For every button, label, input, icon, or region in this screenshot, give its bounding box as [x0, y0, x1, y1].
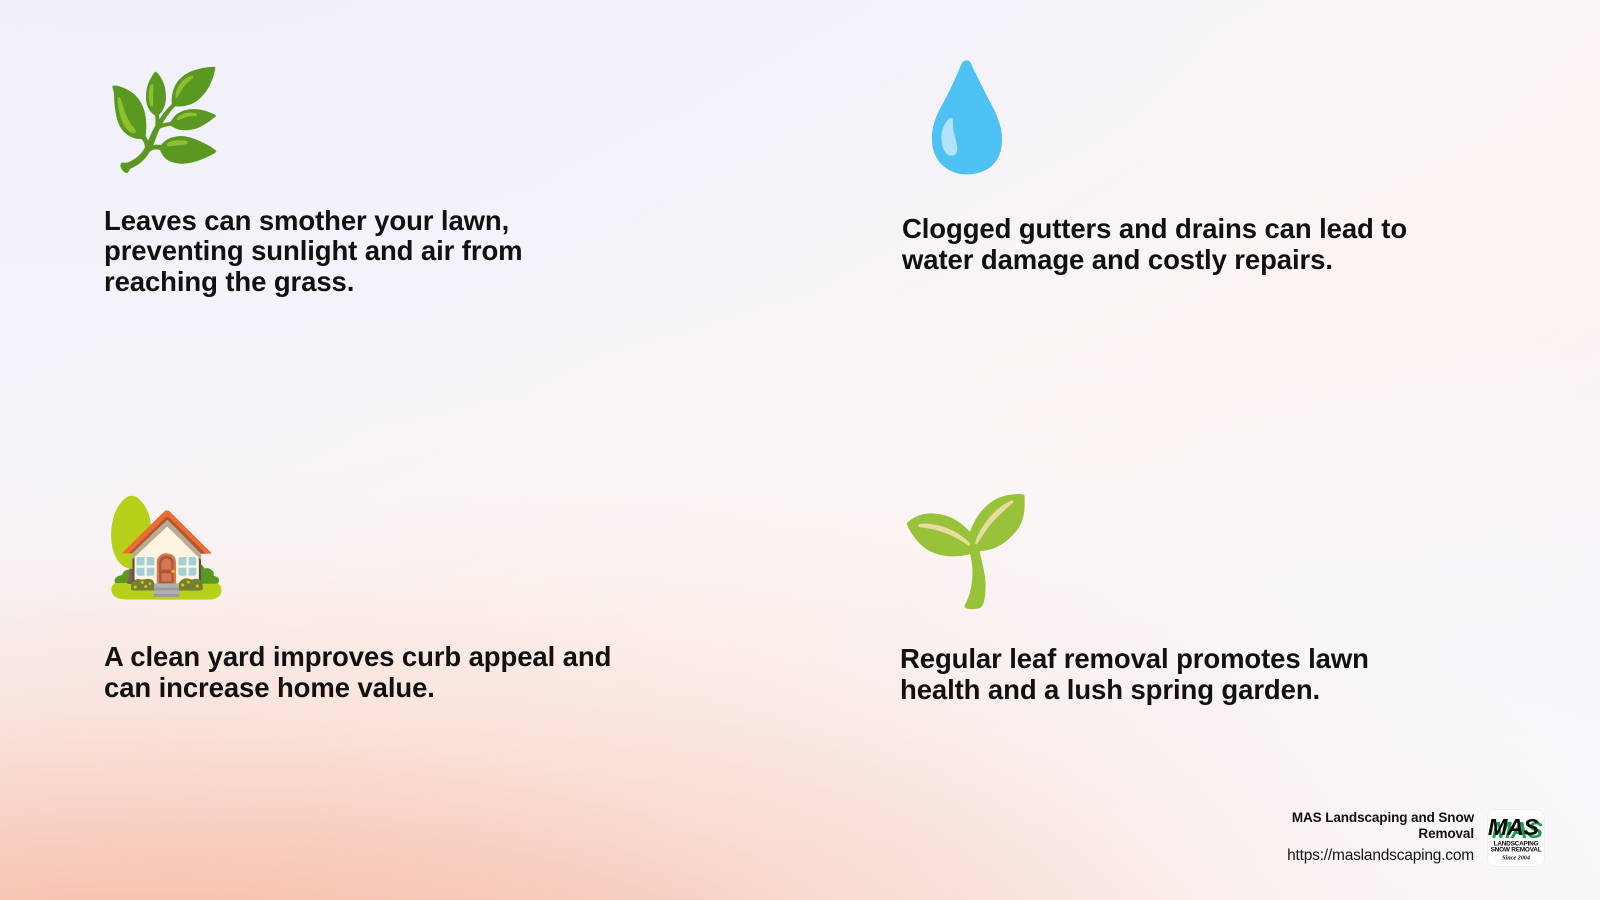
footer-text-block: MAS Landscaping and Snow Removal https:/… [1287, 810, 1474, 865]
seedling-icon: 🌱 [900, 494, 1540, 608]
infographic-canvas: 🌿 Leaves can smother your lawn, preventi… [0, 0, 1600, 900]
herb-leaves-icon: 🌿 [104, 70, 744, 172]
brand-url[interactable]: https://maslandscaping.com [1287, 847, 1474, 865]
card-caption: Clogged gutters and drains can lead to w… [902, 214, 1462, 275]
house-with-garden-icon: 🏡 [104, 492, 744, 598]
card-leaves-smother-lawn: 🌿 Leaves can smother your lawn, preventi… [104, 70, 744, 297]
water-droplet-icon: 💧 [902, 62, 1542, 172]
brand-name: MAS Landscaping and Snow Removal [1288, 810, 1474, 842]
footer-branding: MAS Landscaping and Snow Removal https:/… [1287, 810, 1544, 866]
card-lawn-health: 🌱 Regular leaf removal promotes lawn hea… [900, 494, 1540, 705]
card-caption: A clean yard improves curb appeal and ca… [104, 642, 664, 703]
card-curb-appeal: 🏡 A clean yard improves curb appeal and … [104, 492, 744, 703]
card-caption: Leaves can smother your lawn, preventing… [104, 206, 584, 298]
svg-text:MAS: MAS [1488, 814, 1539, 840]
mas-logo: MAS MAS LANDSCAPING SNOW REMOVAL Since 2… [1488, 810, 1544, 866]
card-caption: Regular leaf removal promotes lawn healt… [900, 644, 1430, 705]
svg-text:Since 2004: Since 2004 [1502, 855, 1530, 861]
svg-text:SNOW REMOVAL: SNOW REMOVAL [1491, 846, 1542, 853]
card-clogged-gutters: 💧 Clogged gutters and drains can lead to… [902, 62, 1542, 275]
